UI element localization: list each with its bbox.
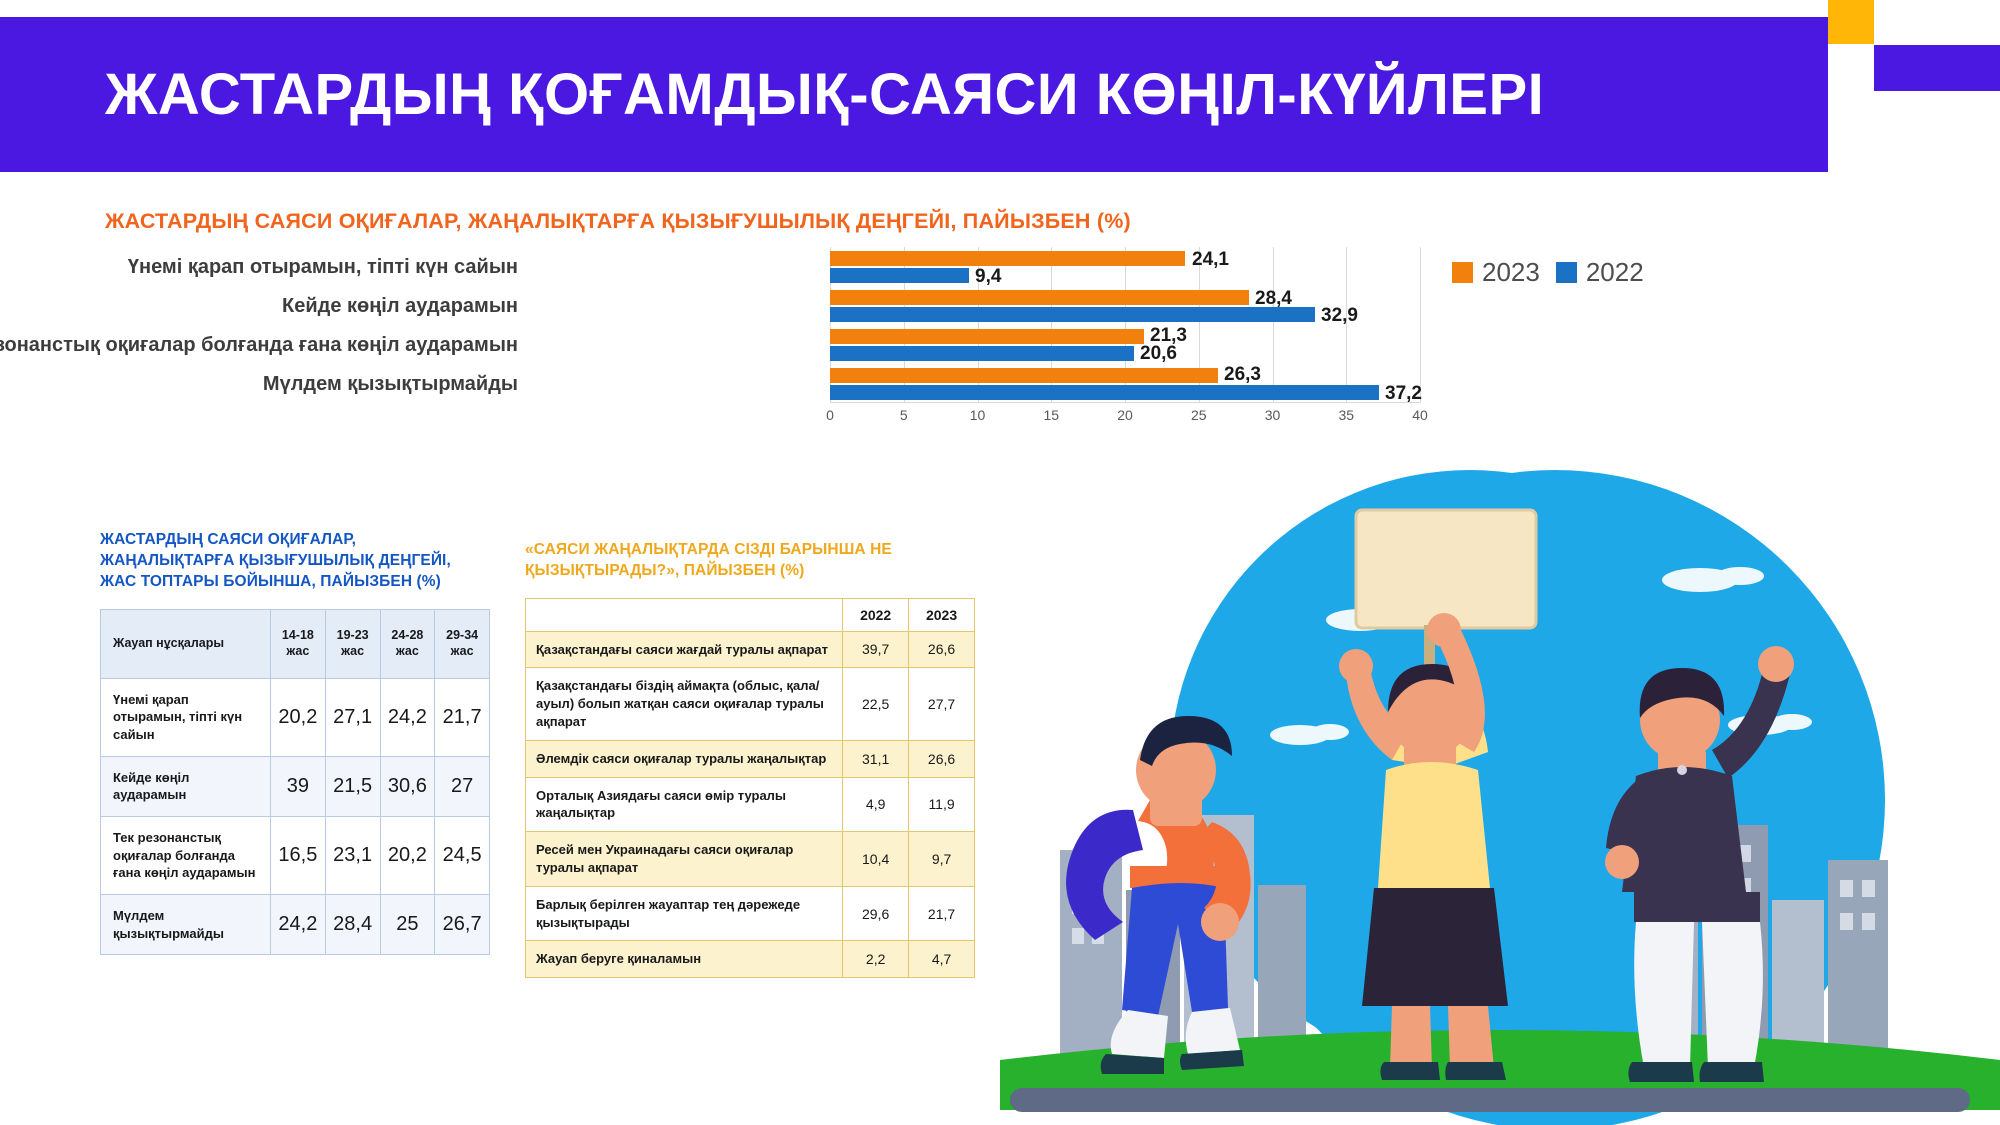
legend-item-2022: 2022: [1556, 257, 1644, 288]
column-header-29-34: 29-34 жас: [435, 610, 490, 678]
cell-value: 21,5: [325, 756, 380, 816]
cell-value: 27: [435, 756, 490, 816]
gridline: [1273, 247, 1274, 403]
legend-label: 2022: [1586, 257, 1644, 288]
cell-value: 22,5: [843, 668, 909, 740]
column-header-topic: [526, 598, 843, 631]
cell-value: 26,7: [435, 894, 490, 954]
legend-swatch-2022: [1556, 262, 1577, 283]
cell-value: 4,7: [909, 941, 975, 978]
bar-2022: [830, 385, 1379, 400]
cell-value: 25: [380, 894, 435, 954]
x-tick-label: 10: [970, 407, 986, 423]
bar-chart-section: ЖАСТАРДЫҢ САЯСИ ОҚИҒАЛАР, ЖАҢАЛЫҚТАРҒА Қ…: [0, 195, 1600, 425]
table-row: Әлемдік саяси оқиғалар туралы жаңалықтар…: [526, 740, 975, 777]
cell-value: 11,9: [909, 777, 975, 832]
header-banner: ЖАСТАРДЫҢ ҚОҒАМДЫҚ-САЯСИ КӨҢІЛ-КҮЙЛЕРІ: [0, 17, 1828, 172]
row-label: Кейде көңіл аударамын: [101, 756, 271, 816]
protest-sign: [1356, 510, 1536, 628]
cell-value: 24,5: [435, 816, 490, 894]
gridline: [1420, 247, 1421, 403]
cell-value: 16,5: [271, 816, 326, 894]
bar-2022: [830, 268, 969, 283]
cell-value: 21,7: [909, 886, 975, 941]
x-tick-label: 25: [1191, 407, 1207, 423]
column-header-19-23: 19-23 жас: [325, 610, 380, 678]
bar-2023: [830, 329, 1144, 344]
cell-value: 30,6: [380, 756, 435, 816]
bar-2023: [830, 290, 1249, 305]
table-row: Мүлдем қызықтырмайды 24,2 28,4 25 26,7: [101, 894, 490, 954]
cell-value: 24,2: [380, 678, 435, 756]
cell-value: 26,6: [909, 740, 975, 777]
row-label: Қазақстандағы саяси жағдай туралы ақпара…: [526, 631, 843, 668]
x-tick-label: 35: [1338, 407, 1354, 423]
table-row: Қазақстандағы саяси жағдай туралы ақпара…: [526, 631, 975, 668]
row-label: Мүлдем қызықтырмайды: [101, 894, 271, 954]
table-row: Кейде көңіл аударамын 39 21,5 30,6 27: [101, 756, 490, 816]
corner-accent-purple: [1874, 45, 2000, 91]
cell-value: 39: [271, 756, 326, 816]
row-label: Тек резонанстық оқиғалар болғанда ғана к…: [101, 816, 271, 894]
protest-illustration: [1000, 470, 2000, 1125]
chart-category-label: Үнемі қарап отырамын, тіпті күн сайын: [0, 256, 518, 279]
cell-value: 20,2: [271, 678, 326, 756]
cell-value: 31,1: [843, 740, 909, 777]
base-bar: [1010, 1088, 1970, 1112]
table-row: Ресей мен Украинадағы саяси оқиғалар тур…: [526, 832, 975, 887]
chart-legend: 2023 2022: [1452, 257, 1644, 288]
cell-value: 27,7: [909, 668, 975, 740]
chart-bars-region: 24,1 9,4 28,4 32,9 21,3 20,6 26,3 37,2 0…: [830, 247, 1420, 425]
cell-value: 2,2: [843, 941, 909, 978]
interest-topics-table: 2022 2023 Қазақстандағы саяси жағдай тур…: [525, 598, 975, 979]
corner-accent-yellow: [1828, 0, 1874, 44]
age-group-table-block: ЖАСТАРДЫҢ САЯСИ ОҚИҒАЛАР, ЖАҢАЛЫҚТАРҒА Қ…: [100, 530, 490, 955]
table-row: Орталық Азиядағы саяси өмір туралы жаңал…: [526, 777, 975, 832]
cell-value: 10,4: [843, 832, 909, 887]
table-header-row: Жауап нұсқалары 14-18 жас 19-23 жас 24-2…: [101, 610, 490, 678]
cell-value: 21,7: [435, 678, 490, 756]
cell-value: 24,2: [271, 894, 326, 954]
cell-value: 4,9: [843, 777, 909, 832]
x-tick-label: 0: [826, 407, 834, 423]
bar-value-label: 37,2: [1385, 383, 1422, 405]
x-tick-label: 20: [1117, 407, 1133, 423]
interest-topics-table-block: «САЯСИ ЖАҢАЛЫҚТАРДА СІЗДІ БАРЫНША НЕ ҚЫЗ…: [525, 540, 975, 978]
cell-value: 9,7: [909, 832, 975, 887]
column-header-2022: 2022: [843, 598, 909, 631]
table-row: Қазақстандағы біздің аймақта (облыс, қал…: [526, 668, 975, 740]
chart-plot-area: Үнемі қарап отырамын, тіпті күн сайын Ке…: [0, 247, 1600, 425]
column-header-2023: 2023: [909, 598, 975, 631]
row-label: Жауап беруге қиналамын: [526, 941, 843, 978]
table-row: Барлық берілген жауаптар тең дәрежеде қы…: [526, 886, 975, 941]
legend-item-2023: 2023: [1452, 257, 1540, 288]
bar-2023: [830, 368, 1218, 383]
bar-value-label: 32,9: [1321, 305, 1358, 327]
x-tick-label: 15: [1043, 407, 1059, 423]
cell-value: 39,7: [843, 631, 909, 668]
age-group-table-title: ЖАСТАРДЫҢ САЯСИ ОҚИҒАЛАР, ЖАҢАЛЫҚТАРҒА Қ…: [100, 530, 490, 592]
column-header-24-28: 24-28 жас: [380, 610, 435, 678]
table-row: Үнемі қарап отырамын, тіпті күн сайын 20…: [101, 678, 490, 756]
cell-value: 23,1: [325, 816, 380, 894]
row-label: Қазақстандағы біздің аймақта (облыс, қал…: [526, 668, 843, 740]
cell-value: 27,1: [325, 678, 380, 756]
cell-value: 20,2: [380, 816, 435, 894]
cell-value: 28,4: [325, 894, 380, 954]
x-tick-label: 40: [1412, 407, 1428, 423]
legend-swatch-2023: [1452, 262, 1473, 283]
x-axis-line: [830, 402, 1420, 403]
x-tick-label: 5: [900, 407, 908, 423]
bar-value-label: 9,4: [975, 266, 1001, 288]
row-label: Ресей мен Украинадағы саяси оқиғалар тур…: [526, 832, 843, 887]
interest-topics-table-title: «САЯСИ ЖАҢАЛЫҚТАРДА СІЗДІ БАРЫНША НЕ ҚЫЗ…: [525, 540, 975, 582]
column-header-answers: Жауап нұсқалары: [101, 610, 271, 678]
bar-value-label: 26,3: [1224, 364, 1261, 386]
page-title: ЖАСТАРДЫҢ ҚОҒАМДЫҚ-САЯСИ КӨҢІЛ-КҮЙЛЕРІ: [0, 61, 1544, 128]
table-header-row: 2022 2023: [526, 598, 975, 631]
row-label: Орталық Азиядағы саяси өмір туралы жаңал…: [526, 777, 843, 832]
legend-label: 2023: [1482, 257, 1540, 288]
chart-title: ЖАСТАРДЫҢ САЯСИ ОҚИҒАЛАР, ЖАҢАЛЫҚТАРҒА Қ…: [105, 209, 1131, 234]
bar-value-label: 24,1: [1192, 249, 1229, 271]
bar-value-label: 20,6: [1140, 343, 1177, 365]
column-header-14-18: 14-18 жас: [271, 610, 326, 678]
bar-2023: [830, 251, 1185, 266]
table-row: Жауап беруге қиналамын 2,2 4,7: [526, 941, 975, 978]
row-label: Әлемдік саяси оқиғалар туралы жаңалықтар: [526, 740, 843, 777]
cell-value: 26,6: [909, 631, 975, 668]
row-label: Үнемі қарап отырамын, тіпті күн сайын: [101, 678, 271, 756]
cell-value: 29,6: [843, 886, 909, 941]
bar-2022: [830, 346, 1134, 361]
table-row: Тек резонанстық оқиғалар болғанда ғана к…: [101, 816, 490, 894]
x-tick-label: 30: [1265, 407, 1281, 423]
bar-2022: [830, 307, 1315, 322]
chart-category-label: Мүлдем қызықтырмайды: [0, 373, 518, 396]
age-group-table: Жауап нұсқалары 14-18 жас 19-23 жас 24-2…: [100, 609, 490, 955]
row-label: Барлық берілген жауаптар тең дәрежеде қы…: [526, 886, 843, 941]
chart-category-label: Тек резонанстық оқиғалар болғанда ғана к…: [0, 334, 518, 357]
chart-category-label: Кейде көңіл аударамын: [0, 295, 518, 318]
